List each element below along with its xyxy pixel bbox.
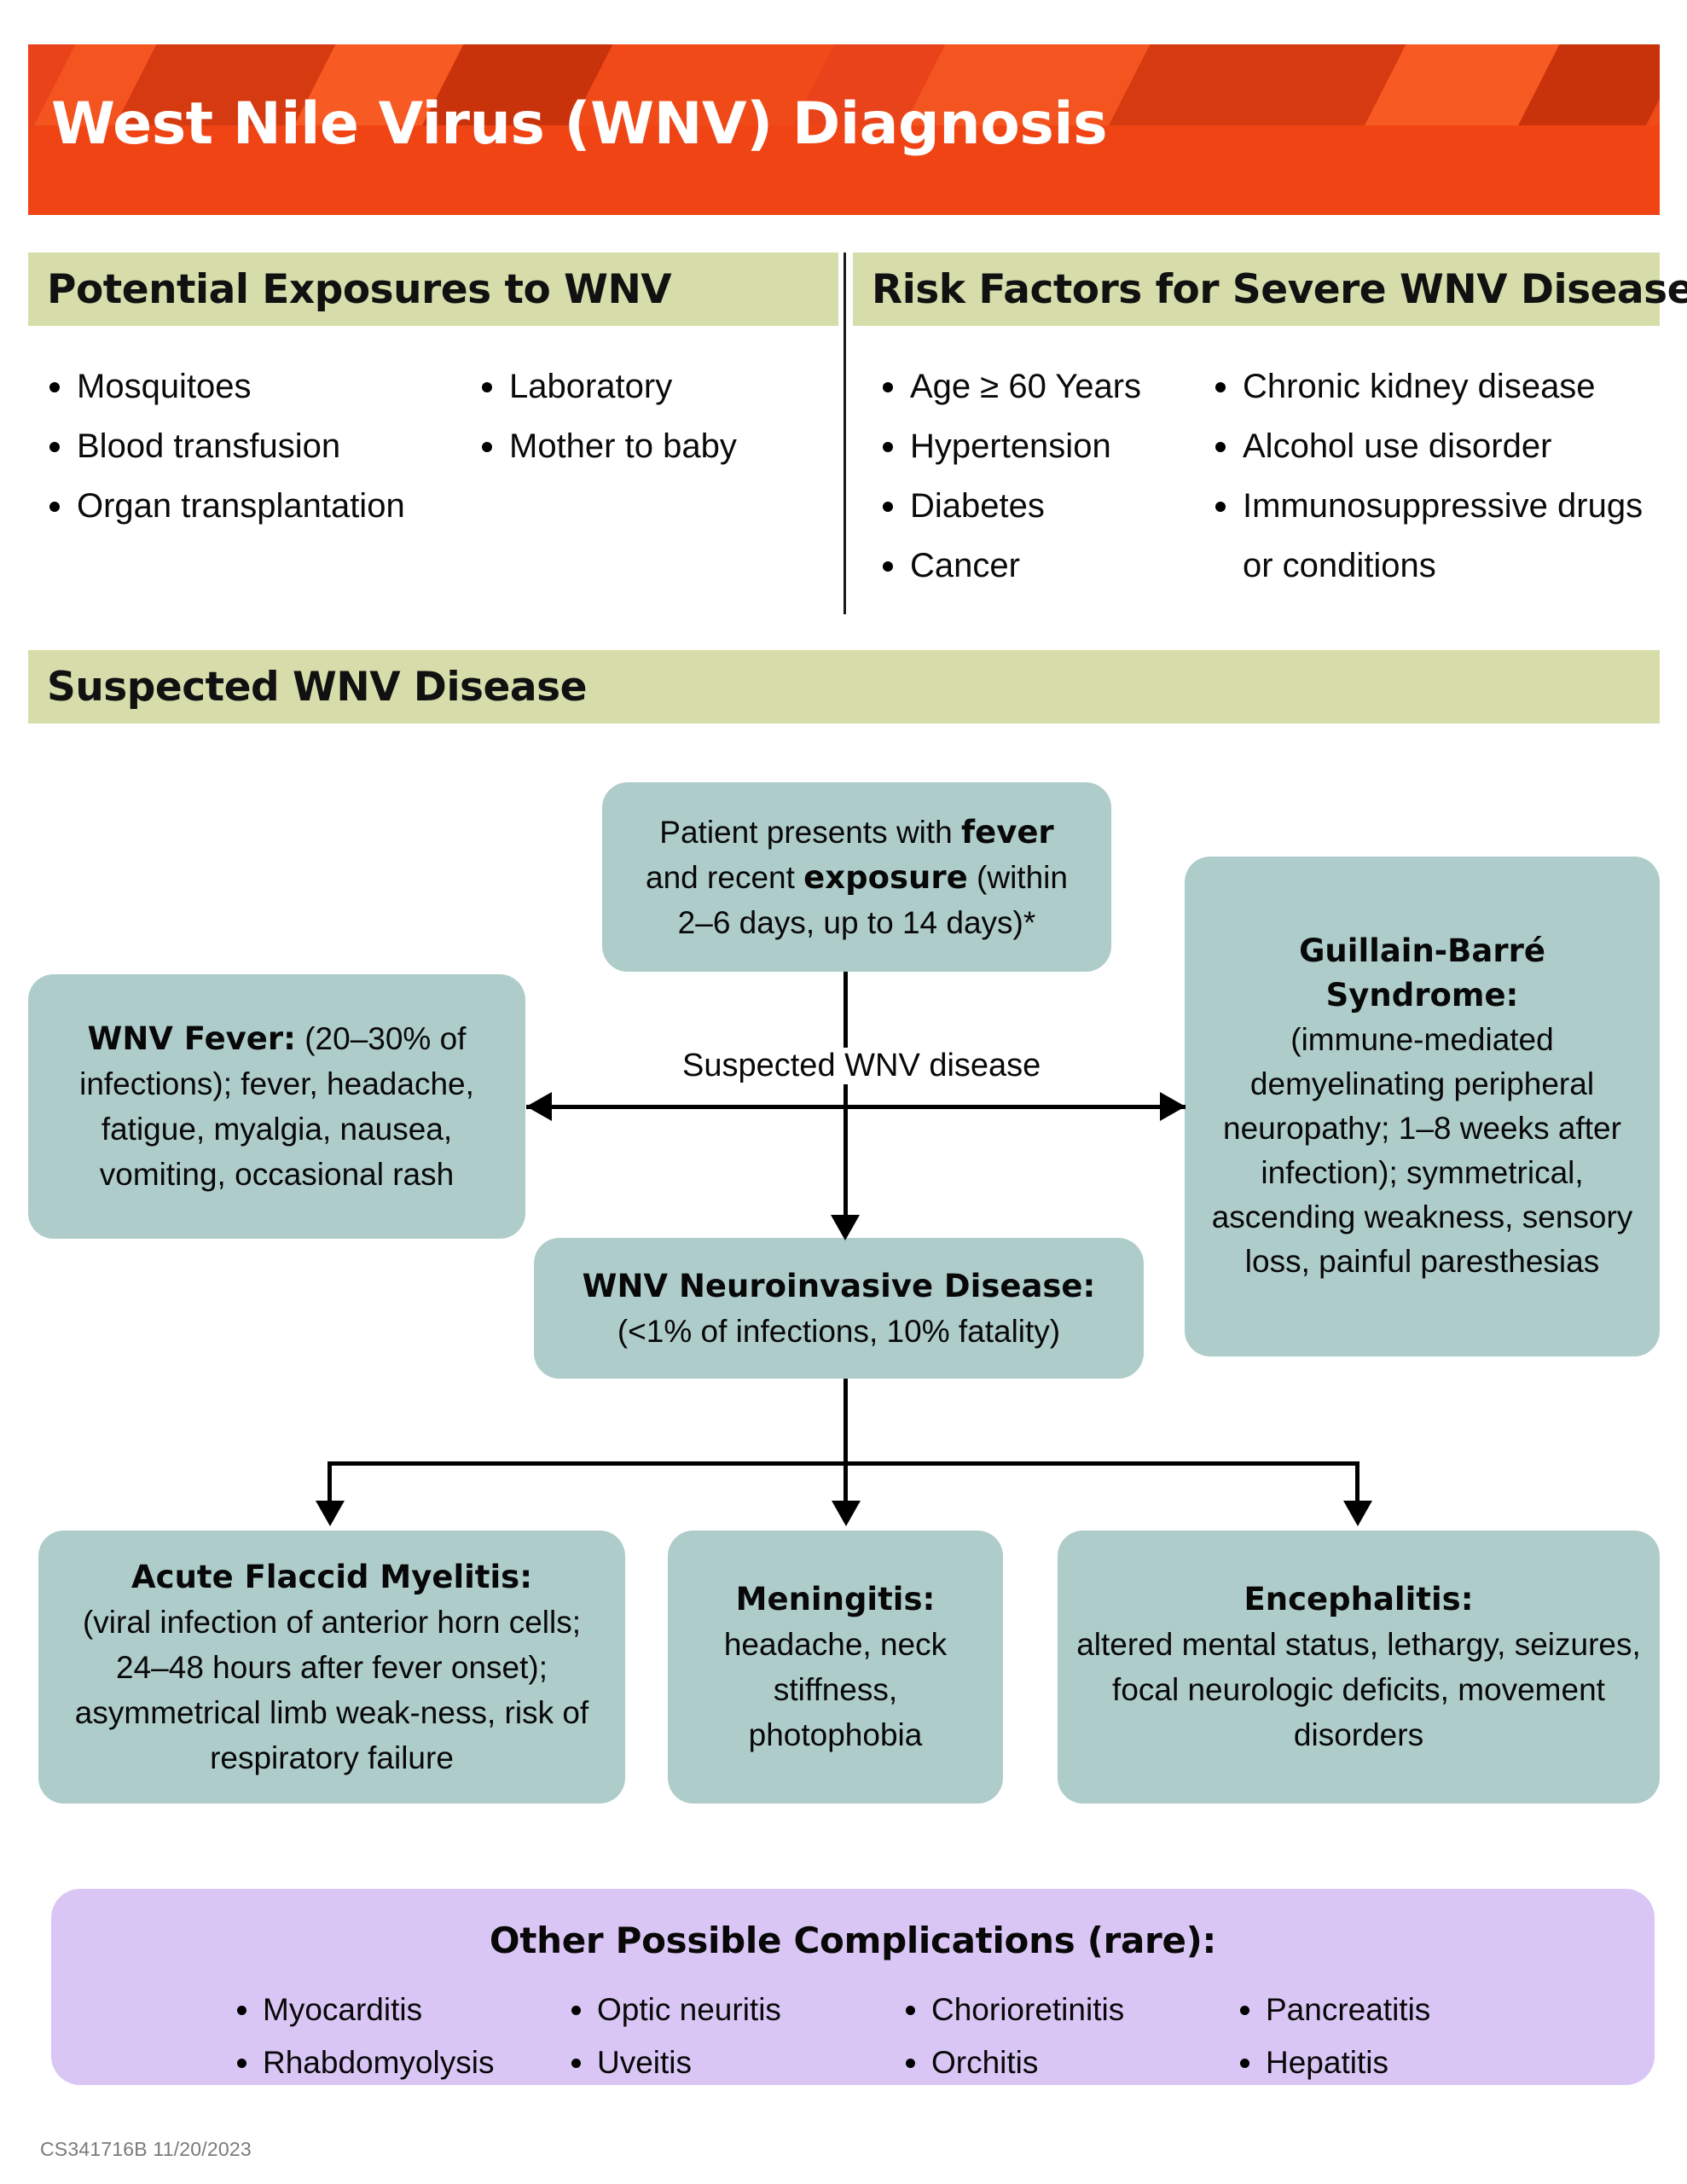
- list-item: Immunosuppressive drugs or conditions: [1207, 476, 1672, 595]
- connector-patient-stem-lower: [843, 1108, 848, 1228]
- connector-neuroinvasive-stem: [843, 1379, 848, 1464]
- meningitis-title: Meningitis:: [736, 1581, 936, 1618]
- list-item: Hepatitis: [1233, 2036, 1568, 2089]
- arrowhead-down-to-encephalitis-icon: [1343, 1501, 1372, 1526]
- arrowhead-down-to-neuroinvasive-icon: [831, 1215, 860, 1240]
- list-item: Cancer: [874, 536, 1164, 595]
- list-item: Mother to baby: [473, 416, 832, 476]
- acute-flaccid-myelitis-text: Acute Flaccid Myelitis: (viral infection…: [55, 1554, 608, 1780]
- suspected-disease-band: Suspected WNV Disease: [28, 650, 1660, 723]
- arrowhead-left-icon: [526, 1092, 552, 1121]
- patient-exposure-emphasis: exposure: [803, 859, 968, 896]
- patient-line3: 2–6 days, up to 14 days)*: [678, 905, 1036, 940]
- exposures-list-column-b: Laboratory Mother to baby: [473, 357, 832, 476]
- list-item: Uveitis: [565, 2036, 899, 2089]
- patient-line2-suffix: (within: [968, 860, 1068, 895]
- acute-flaccid-myelitis-body: (viral infection of anterior horn cells;…: [75, 1605, 588, 1775]
- patient-fever-emphasis: fever: [961, 814, 1054, 851]
- page-title: West Nile Virus (WNV) Diagnosis: [51, 90, 1107, 158]
- list-item: Pancreatitis: [1233, 1984, 1568, 2036]
- risk-factors-panel-header: Risk Factors for Severe WNV Disease: [853, 253, 1660, 326]
- list-item: Diabetes: [874, 476, 1164, 536]
- list-item: Chorioretinitis: [899, 1984, 1233, 2036]
- risk-factors-list-column-b: Chronic kidney disease Alcohol use disor…: [1207, 357, 1672, 595]
- encephalitis-body: altered mental status, lethargy, seizure…: [1076, 1627, 1641, 1752]
- publication-code: CS341716B 11/20/2023: [40, 2138, 252, 2161]
- risk-factors-list-column-a: Age ≥ 60 Years Hypertension Diabetes Can…: [874, 357, 1164, 595]
- flow-node-patient-presentation: Patient presents with fever and recent e…: [602, 782, 1111, 972]
- list-item: Alcohol use disorder: [1207, 416, 1672, 476]
- acute-flaccid-myelitis-title: Acute Flaccid Myelitis:: [131, 1559, 532, 1595]
- risk-factors-panel-title: Risk Factors for Severe WNV Disease: [872, 266, 1687, 313]
- header-banner: West Nile Virus (WNV) Diagnosis: [28, 44, 1660, 215]
- flow-node-acute-flaccid-myelitis: Acute Flaccid Myelitis: (viral infection…: [38, 1531, 625, 1804]
- list-item: Age ≥ 60 Years: [874, 357, 1164, 416]
- list-item: Optic neuritis: [565, 1984, 899, 2036]
- flow-node-neuroinvasive-disease: WNV Neuroinvasive Disease: (<1% of infec…: [534, 1238, 1144, 1379]
- meningitis-text: Meningitis: headache, neck stiffness, ph…: [685, 1577, 986, 1757]
- neuroinvasive-title: WNV Neuroinvasive Disease:: [583, 1268, 1096, 1304]
- list-item: Organ transplantation: [41, 476, 442, 536]
- flow-node-wnv-fever: WNV Fever: (20–30% of infections); fever…: [28, 974, 525, 1239]
- arrowhead-right-icon: [1160, 1092, 1186, 1121]
- complications-column-1: Myocarditis Rhabdomyolysis: [230, 1984, 565, 2089]
- flow-node-meningitis: Meningitis: headache, neck stiffness, ph…: [668, 1531, 1003, 1804]
- exposures-panel-title: Potential Exposures to WNV: [47, 266, 671, 313]
- guillain-barre-title-line1: Guillain-Barré: [1299, 932, 1545, 969]
- complications-column-2: Optic neuritis Uveitis: [565, 1984, 899, 2089]
- list-item: Hypertension: [874, 416, 1164, 476]
- connector-horizontal-branch: [526, 1105, 1186, 1109]
- neuroinvasive-text: WNV Neuroinvasive Disease: (<1% of infec…: [583, 1263, 1096, 1354]
- complications-column-3: Chorioretinitis Orchitis: [899, 1984, 1233, 2089]
- list-item: Orchitis: [899, 2036, 1233, 2089]
- list-item: Myocarditis: [230, 1984, 565, 2036]
- encephalitis-text: Encephalitis: altered mental status, let…: [1075, 1577, 1643, 1757]
- meningitis-body: headache, neck stiffness, photophobia: [724, 1627, 947, 1752]
- panel-column-divider: [843, 253, 846, 614]
- connector-patient-stem-upper: [843, 972, 848, 1108]
- other-complications-box: Other Possible Complications (rare): Myo…: [51, 1889, 1655, 2085]
- wnv-fever-text: WNV Fever: (20–30% of infections); fever…: [45, 1016, 508, 1197]
- arrowhead-down-to-myelitis-icon: [316, 1501, 345, 1526]
- encephalitis-title: Encephalitis:: [1244, 1581, 1474, 1618]
- other-complications-grid: Myocarditis Rhabdomyolysis Optic neuriti…: [51, 1961, 1655, 2089]
- guillain-barre-body: (immune-mediated demyelinating periphera…: [1212, 1022, 1633, 1279]
- other-complications-title: Other Possible Complications (rare):: [51, 1889, 1655, 1961]
- patient-line2-prefix: and recent: [646, 860, 803, 895]
- flow-node-guillain-barre: Guillain-Barré Syndrome: (immune-mediate…: [1185, 857, 1660, 1356]
- patient-presentation-text: Patient presents with fever and recent e…: [646, 810, 1068, 945]
- list-item: Chronic kidney disease: [1207, 357, 1672, 416]
- suspected-disease-title: Suspected WNV Disease: [47, 664, 587, 711]
- list-item: Laboratory: [473, 357, 832, 416]
- neuroinvasive-body: (<1% of infections, 10% fatality): [617, 1314, 1060, 1349]
- patient-line1-prefix: Patient presents with: [659, 815, 961, 850]
- flow-node-encephalitis: Encephalitis: altered mental status, let…: [1058, 1531, 1660, 1804]
- exposures-list-column-a: Mosquitoes Blood transfusion Organ trans…: [41, 357, 442, 536]
- guillain-barre-title-line2: Syndrome:: [1326, 977, 1519, 1014]
- list-item: Rhabdomyolysis: [230, 2036, 565, 2089]
- guillain-barre-text: Guillain-Barré Syndrome: (immune-mediate…: [1202, 929, 1643, 1284]
- branch-label: Suspected WNV disease: [674, 1048, 1049, 1084]
- list-item: Blood transfusion: [41, 416, 442, 476]
- exposures-panel-header: Potential Exposures to WNV: [28, 253, 838, 326]
- wnv-fever-title: WNV Fever:: [88, 1020, 296, 1057]
- list-item: Mosquitoes: [41, 357, 442, 416]
- arrowhead-down-to-meningitis-icon: [832, 1501, 861, 1526]
- complications-column-4: Pancreatitis Hepatitis: [1233, 1984, 1568, 2089]
